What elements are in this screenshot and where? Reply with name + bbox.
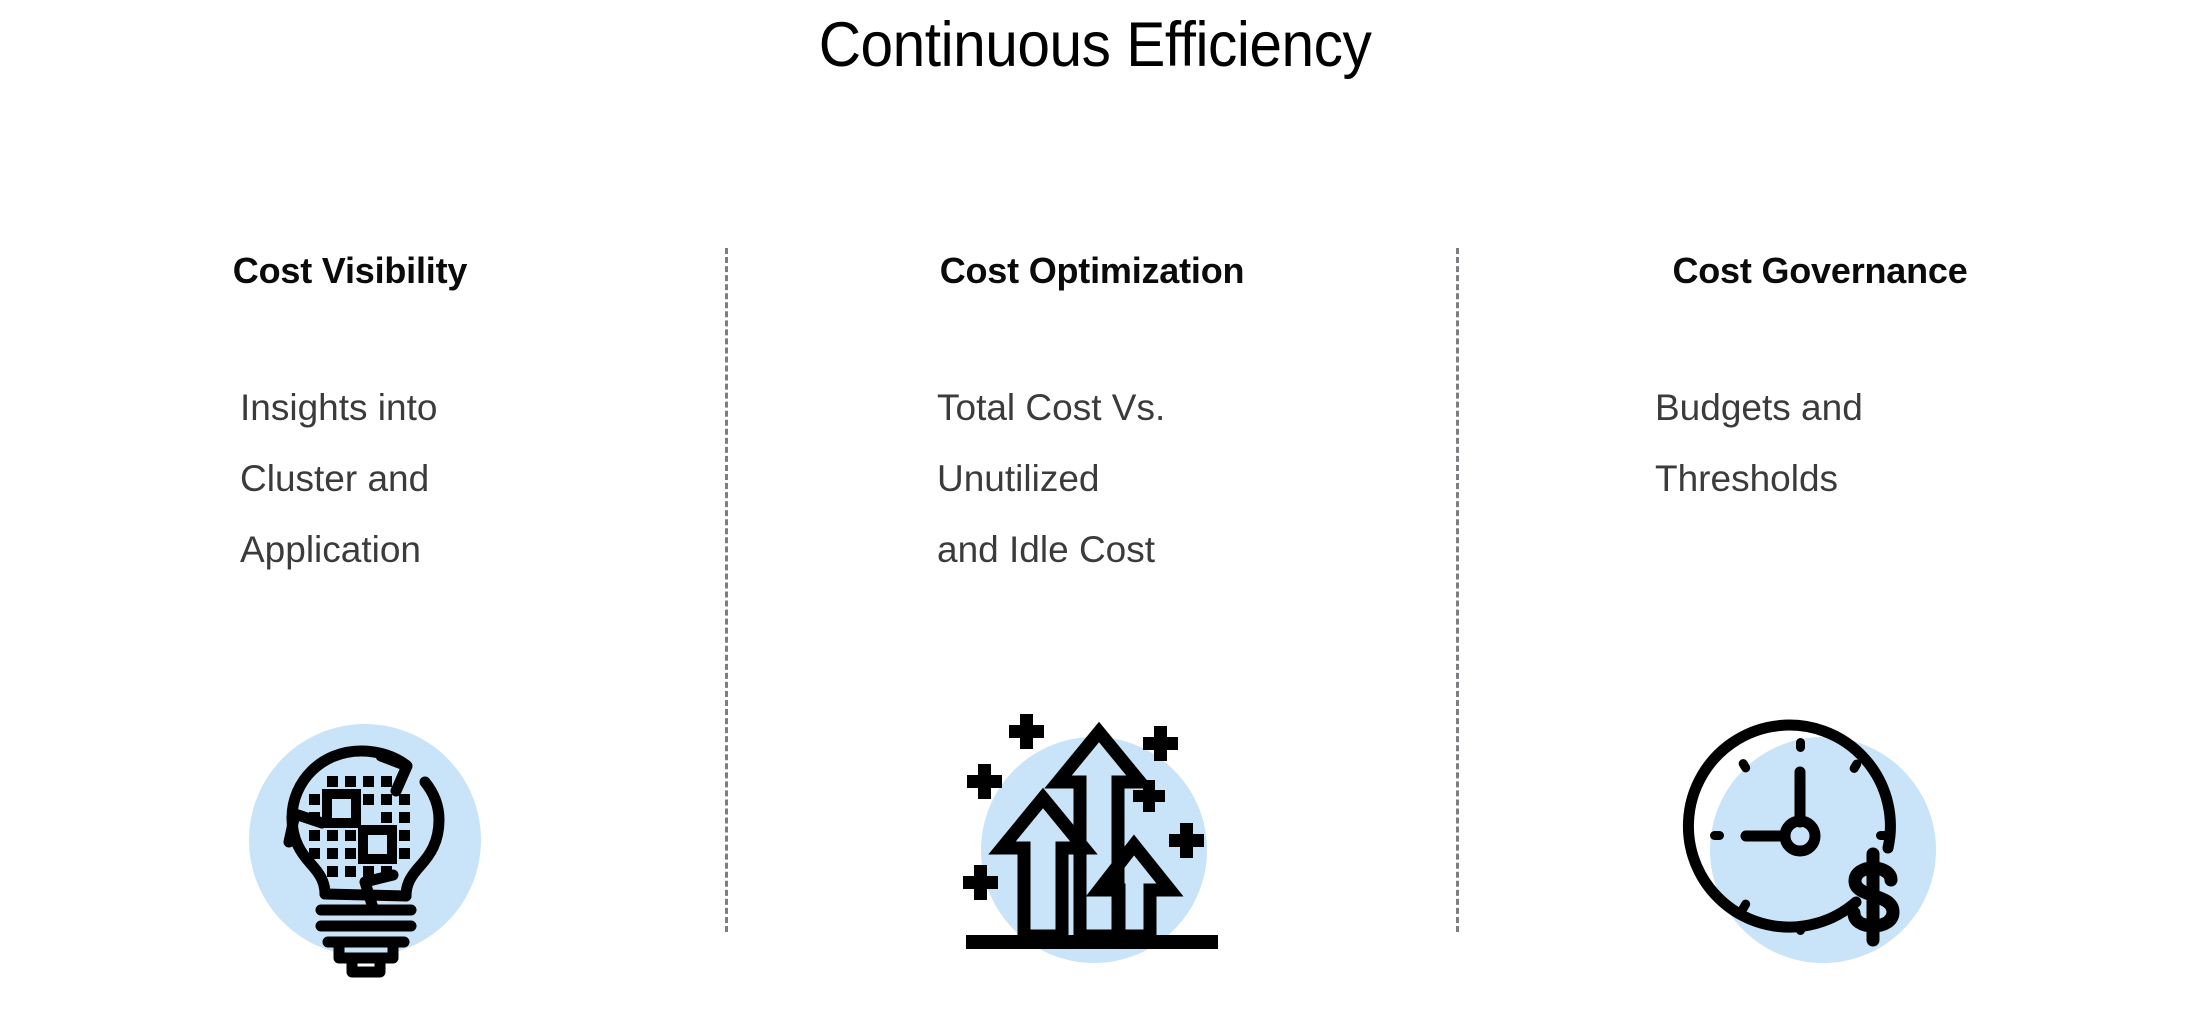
column-heading: Cost Optimization <box>772 250 1412 292</box>
column-heading: Cost Governance <box>1500 250 2140 292</box>
page-title: Continuous Efficiency <box>77 8 2114 84</box>
body-line: Insights into <box>240 372 670 443</box>
body-line: and Idle Cost <box>937 514 1367 585</box>
column-cost-visibility: Cost Visibility Insights into Cluster an… <box>30 250 670 950</box>
column-heading: Cost Visibility <box>30 250 670 292</box>
clock-dollar-icon <box>1660 690 1960 990</box>
growth-arrows-icon <box>944 690 1244 990</box>
lightbulb-chip-refresh-icon <box>215 690 515 990</box>
column-cost-optimization: Cost Optimization Total Cost Vs. Unutili… <box>772 250 1412 950</box>
column-body-text: Total Cost Vs. Unutilized and Idle Cost <box>937 372 1367 585</box>
column-body-text: Insights into Cluster and Application <box>240 372 670 585</box>
body-line: Thresholds <box>1655 443 2085 514</box>
body-line: Unutilized <box>937 443 1367 514</box>
columns-container: Cost Visibility Insights into Cluster an… <box>0 250 2190 950</box>
column-cost-governance: Cost Governance Budgets and Thresholds <box>1500 250 2140 950</box>
slide-canvas: Continuous Efficiency Cost Visibility In… <box>0 0 2190 1030</box>
body-line: Application <box>240 514 670 585</box>
body-line: Total Cost Vs. <box>937 372 1367 443</box>
column-body-text: Budgets and Thresholds <box>1655 372 2085 514</box>
body-line: Budgets and <box>1655 372 2085 443</box>
body-line: Cluster and <box>240 443 670 514</box>
